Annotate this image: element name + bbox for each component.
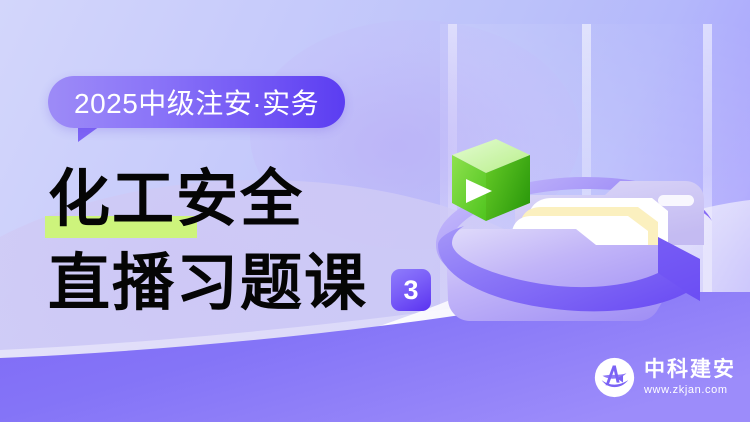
folder-tab-notch (658, 195, 694, 206)
company-name: 中科建安 (644, 359, 736, 380)
course-tag-pill: 2025中级注安·实务 (48, 76, 345, 128)
page-title-line-2: 直播习题课 (48, 252, 368, 314)
logo-text-block: 中科建安 www.zkjan.com (644, 359, 736, 396)
course-banner: 2025中级注安·实务 化工安全 直播习题课 3 中科建安 www.zkjan.… (0, 0, 750, 422)
company-logo-icon (594, 357, 635, 398)
episode-number-badge: 3 (391, 269, 431, 311)
episode-number: 3 (403, 275, 418, 306)
company-url: www.zkjan.com (644, 385, 736, 396)
course-tag-label: 2025中级注安·实务 (74, 82, 319, 122)
folder-illustration (400, 95, 740, 335)
brand-logo: 中科建安 www.zkjan.com (594, 357, 736, 398)
tag-pill-tail (78, 126, 100, 142)
page-title-line-1: 化工安全 (48, 168, 304, 230)
